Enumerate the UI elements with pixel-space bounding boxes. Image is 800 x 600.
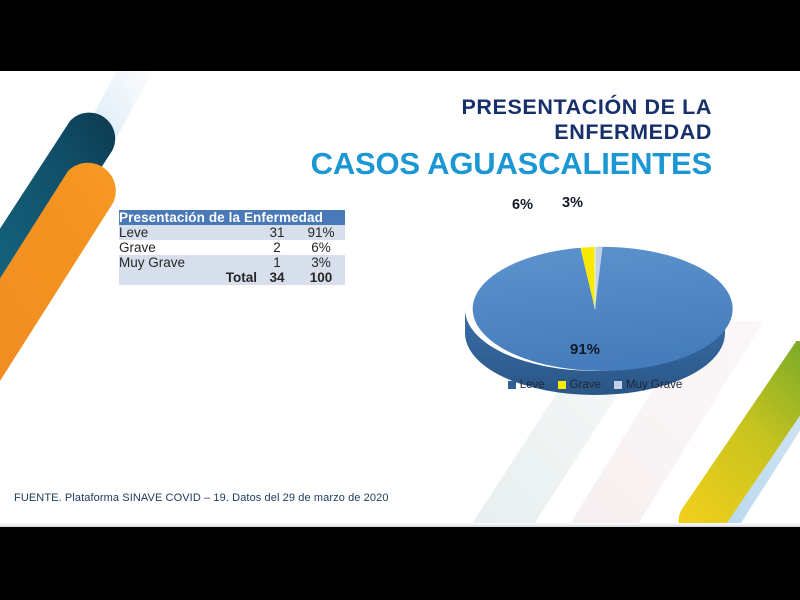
legend-item-grave: Grave (558, 379, 601, 391)
letterbox-bottom-bar (0, 527, 800, 600)
cell-total-percent: 100 (297, 270, 345, 285)
cell-count: 31 (257, 225, 297, 240)
legend-swatch-icon (508, 381, 516, 389)
pie-label-grave: 6% (512, 197, 533, 213)
cell-total-count: 34 (257, 270, 297, 285)
table-row: Leve 31 91% (119, 225, 345, 240)
pie-label-leve: 91% (570, 341, 600, 358)
legend-label: Muy Grave (626, 379, 682, 391)
legend-item-muy-grave: Muy Grave (614, 379, 682, 391)
cell-percent: 6% (297, 240, 345, 255)
cell-label: Leve (119, 225, 257, 240)
legend-label: Leve (520, 379, 545, 391)
chart-legend: Leve Grave Muy Grave (430, 379, 760, 391)
table-row: Grave 2 6% (119, 240, 345, 255)
legend-item-leve: Leve (508, 379, 545, 391)
table-body: Leve 31 91% Grave 2 6% Muy Grave 1 3% To… (119, 225, 345, 285)
source-footnote: FUENTE. Plataforma SINAVE COVID – 19. Da… (14, 492, 389, 504)
title-line-1: PRESENTACIÓN DE LA (292, 95, 712, 120)
table-row: Muy Grave 1 3% (119, 255, 345, 270)
cell-count: 2 (257, 240, 297, 255)
title-line-3: CASOS AGUASCALIENTES (292, 146, 712, 182)
cell-label: Grave (119, 240, 257, 255)
pie-chart-svg (430, 181, 760, 401)
letterbox-top-bar (0, 0, 800, 71)
legend-swatch-icon (614, 381, 622, 389)
pie-chart: 6% 3% 91% (430, 181, 760, 401)
table-total-row: Total 34 100 (119, 270, 345, 285)
table-header-cell: Presentación de la Enfermedad (119, 210, 345, 225)
pie-label-muy-grave: 3% (562, 195, 583, 211)
cell-label: Muy Grave (119, 255, 257, 270)
slide-frame: PRESENTACIÓN DE LA ENFERMEDAD CASOS AGUA… (0, 0, 800, 600)
cell-percent: 91% (297, 225, 345, 240)
presentation-slide: PRESENTACIÓN DE LA ENFERMEDAD CASOS AGUA… (0, 71, 800, 527)
legend-label: Grave (570, 379, 601, 391)
disease-presentation-table: Presentación de la Enfermedad Leve 31 91… (119, 210, 345, 285)
cell-count: 1 (257, 255, 297, 270)
pie-slice-leve (473, 247, 733, 371)
cell-total-label: Total (119, 270, 257, 285)
legend-swatch-icon (558, 381, 566, 389)
table-header-row: Presentación de la Enfermedad (119, 210, 345, 225)
title-line-2: ENFERMEDAD (292, 120, 712, 145)
table-head: Presentación de la Enfermedad (119, 210, 345, 225)
slide-title-block: PRESENTACIÓN DE LA ENFERMEDAD CASOS AGUA… (292, 95, 712, 182)
cell-percent: 3% (297, 255, 345, 270)
